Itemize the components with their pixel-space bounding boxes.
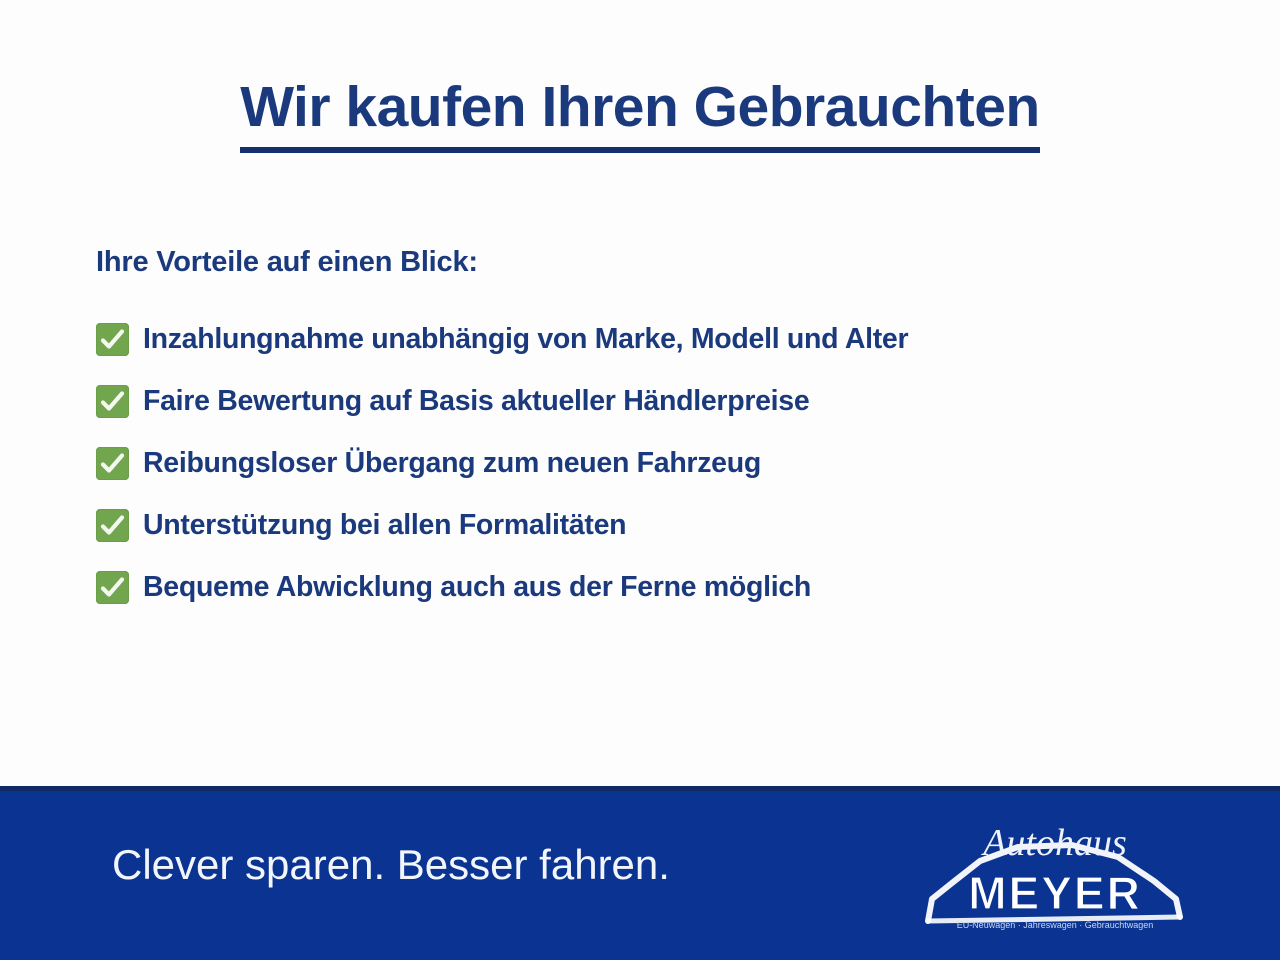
- dealer-logo: Autohaus MEYER EU-Neuwagen · Jahreswagen…: [922, 813, 1188, 943]
- check-box-icon: [96, 323, 129, 356]
- list-item: Unterstützung bei allen Formalitäten: [96, 494, 1226, 556]
- list-item-label: Unterstützung bei allen Formalitäten: [143, 511, 626, 540]
- check-box-icon: [96, 571, 129, 604]
- list-item-label: Bequeme Abwicklung auch aus der Ferne mö…: [143, 573, 811, 602]
- list-item-label: Inzahlungnahme unabhängig von Marke, Mod…: [143, 325, 908, 354]
- benefits-list: Inzahlungnahme unabhängig von Marke, Mod…: [96, 308, 1226, 618]
- logo-script-name: Autohaus: [980, 822, 1127, 864]
- page-title: Wir kaufen Ihren Gebrauchten: [240, 78, 1039, 153]
- list-item: Bequeme Abwicklung auch aus der Ferne mö…: [96, 556, 1226, 618]
- list-item: Faire Bewertung auf Basis aktueller Händ…: [96, 370, 1226, 432]
- footer-slogan: Clever sparen. Besser fahren.: [112, 841, 670, 889]
- page-title-container: Wir kaufen Ihren Gebrauchten: [0, 78, 1280, 153]
- list-item-label: Faire Bewertung auf Basis aktueller Händ…: [143, 387, 809, 416]
- logo-brand-name: MEYER: [968, 867, 1142, 919]
- check-box-icon: [96, 447, 129, 480]
- promo-page: Wir kaufen Ihren Gebrauchten Ihre Vortei…: [0, 0, 1280, 960]
- check-box-icon: [96, 509, 129, 542]
- list-item: Reibungsloser Übergang zum neuen Fahrzeu…: [96, 432, 1226, 494]
- list-item-label: Reibungsloser Übergang zum neuen Fahrzeu…: [143, 449, 761, 478]
- footer-banner: Clever sparen. Besser fahren. Autohaus M…: [0, 786, 1280, 960]
- check-box-icon: [96, 385, 129, 418]
- benefits-subtitle: Ihre Vorteile auf einen Blick:: [96, 246, 478, 279]
- list-item: Inzahlungnahme unabhängig von Marke, Mod…: [96, 308, 1226, 370]
- logo-tagline: EU-Neuwagen · Jahreswagen · Gebrauchtwag…: [957, 920, 1154, 930]
